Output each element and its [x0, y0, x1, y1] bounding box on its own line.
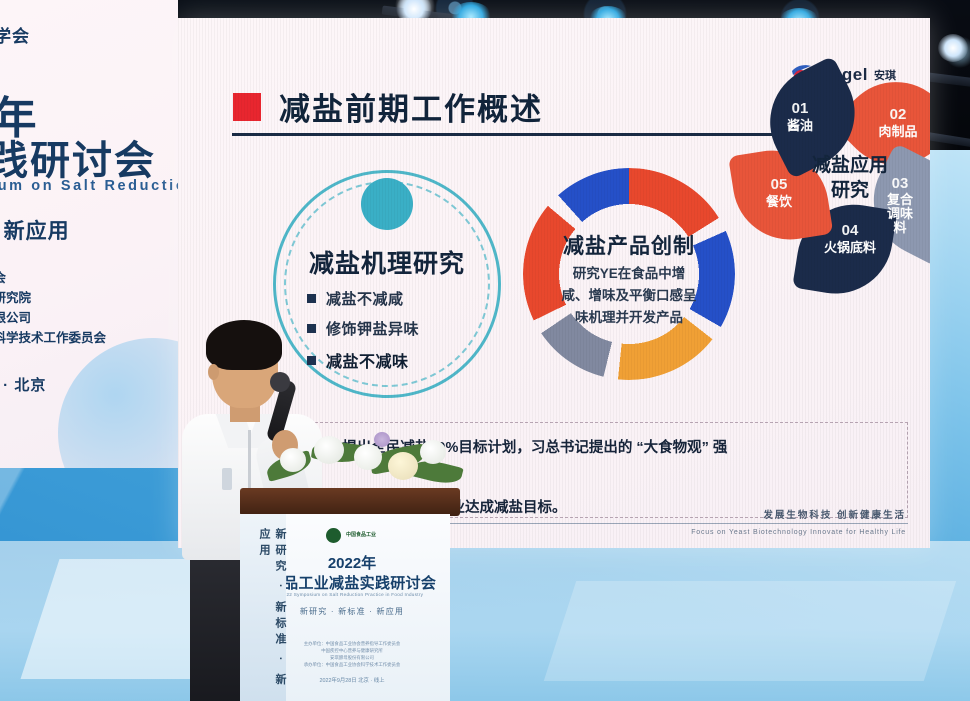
white-flower — [354, 444, 382, 470]
circle2-body: 研究YE在食品中增 咸、增味及平衡口感呈 味机理并开发产品 — [527, 263, 731, 329]
petal-center-heading: 减盐应用 研究 — [812, 153, 888, 203]
circle2-body-line: 咸、增味及平衡口感呈 — [527, 285, 731, 307]
name-badge — [222, 468, 232, 490]
circle1-heading: 减盐机理研究 — [273, 244, 501, 280]
petal-heading-line1: 减盐应用 — [812, 153, 888, 178]
petal-label-05: 05 餐饮 — [756, 177, 802, 209]
podium-side-panel: 新研究 · 新标准 · 新应用 — [240, 514, 286, 701]
product-innovation-donut: 减盐产品创制 研究YE在食品中增 咸、增味及平衡口感呈 味机理并开发产品 — [523, 168, 735, 380]
stage-light-white — [938, 34, 968, 62]
podium: 中国食品工业 2022年 食品工业减盐实践研讨会 2022 Symposium … — [240, 488, 460, 701]
banner-place: 中国 · 北京 — [0, 374, 46, 395]
list-item-label: 减盐不减味 — [326, 348, 409, 372]
flower-arrangement — [262, 418, 472, 500]
petal-heading-line2: 研究 — [812, 178, 888, 203]
stage-floor — [0, 541, 970, 701]
banner-subtitle: 准 · 新应用 — [0, 215, 70, 245]
list-item-label: 修饰钾盐异味 — [326, 318, 419, 339]
white-flower — [280, 448, 306, 472]
white-flower — [420, 440, 446, 464]
application-research-petal-diagram: 01 酱油 02 肉制品 03 复合调味料 04 火锅底料 05 餐饮 减盐应用 — [750, 73, 930, 283]
floor-highlight — [544, 581, 956, 681]
teal-dot-icon — [361, 178, 413, 230]
cream-flower — [388, 452, 418, 480]
petal-number: 05 — [756, 177, 802, 192]
banner-wave-decoration — [58, 338, 178, 468]
circle2-body-line: 研究YE在食品中增 — [527, 263, 731, 285]
banner-organizers: 营养学会 界健康研究院 股份有限公司 品协会科学技术工作委员会 — [0, 268, 106, 348]
slide-title-row: 减盐前期工作概述 — [233, 84, 543, 129]
speaker-hair — [206, 320, 282, 370]
podium-org-logo-icon — [326, 528, 341, 543]
circle2-heading: 减盐产品创制 — [523, 230, 735, 260]
list-item-label: 减盐不减咸 — [326, 288, 404, 309]
slide-title: 减盐前期工作概述 — [279, 84, 543, 129]
petal-name: 肉制品 — [868, 124, 928, 139]
petal-name: 酱油 — [772, 118, 828, 133]
petal-number: 02 — [868, 107, 928, 122]
square-bullet-icon — [307, 294, 316, 303]
red-square-marker-icon — [233, 93, 261, 121]
white-flower — [314, 436, 344, 464]
event-backdrop-banner: 营养学会 2年 实践研讨会 mposium on Salt Reduction … — [0, 0, 178, 468]
circle2-body-line: 味机理并开发产品 — [527, 307, 731, 329]
petal-label-04: 04 火锅底料 — [812, 223, 888, 255]
list-item: 减盐不减咸 — [307, 288, 419, 309]
petal-name: 餐饮 — [756, 194, 802, 209]
petal-name: 火锅底料 — [812, 240, 888, 255]
speaker-ear — [208, 364, 219, 380]
slide-footer-cn: 发展生物科技 创新健康生活 — [763, 507, 906, 521]
banner-association: 营养学会 — [0, 22, 30, 47]
slide-footer-en: Focus on Yeast Biotechnology Innovate fo… — [691, 529, 906, 536]
petal-number: 04 — [812, 223, 888, 238]
petal-number: 01 — [772, 101, 828, 116]
podium-org-label: 中国食品工业 — [346, 531, 376, 538]
podium-side-text: 新研究 · 新标准 · 新应用 — [256, 528, 288, 701]
microphone-head-icon — [270, 372, 290, 392]
banner-english-title: mposium on Salt Reduction — [0, 178, 178, 194]
petal-label-02: 02 肉制品 — [868, 107, 928, 139]
conference-photo: 营养学会 2年 实践研讨会 mposium on Salt Reduction … — [0, 0, 970, 701]
petal-label-01: 01 酱油 — [772, 101, 828, 133]
purple-flower — [374, 432, 390, 447]
